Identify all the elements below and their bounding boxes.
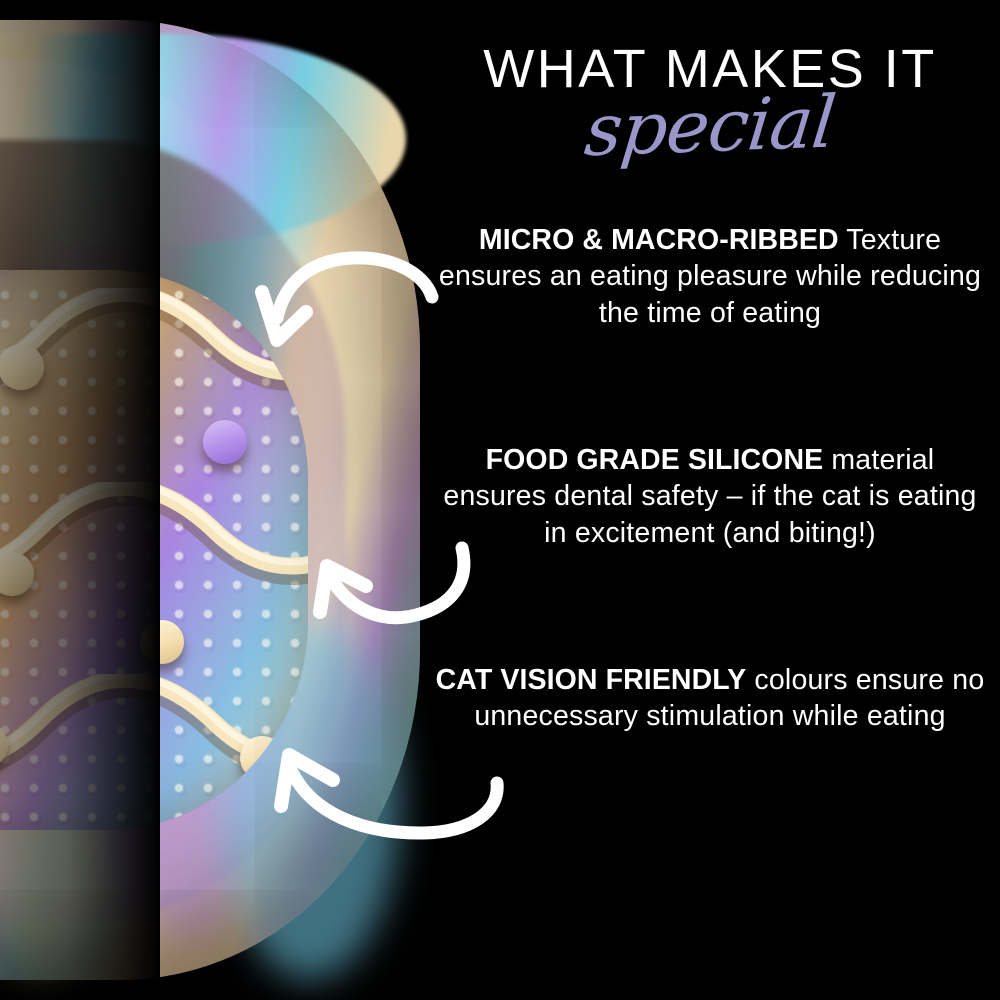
feature-bold-label: CAT VISION FRIENDLY: [436, 664, 747, 696]
product-image: [0, 20, 420, 980]
wavy-ridge: [0, 288, 308, 408]
infographic-canvas: WHAT MAKES IT special MICRO & MACRO-RIBB…: [0, 0, 1000, 1000]
wavy-ridge: [0, 482, 308, 602]
feature-text: CAT VISION FRIENDLY colours ensure no un…: [420, 662, 1000, 735]
macro-post: [203, 420, 247, 464]
page-title: WHAT MAKES IT special: [420, 42, 1000, 162]
macro-post: [140, 620, 184, 664]
content-column: WHAT MAKES IT special MICRO & MACRO-RIBB…: [420, 0, 1000, 1000]
macro-post: [240, 736, 284, 780]
feature-bold-label: MICRO & MACRO-RIBBED: [479, 224, 839, 256]
feature-bold-label: FOOD GRADE SILICONE: [486, 444, 824, 476]
feeder-floor: [0, 270, 308, 830]
headline-script-word: special: [582, 86, 839, 167]
macro-post: [0, 344, 44, 390]
feature-block-food-grade-silicone: FOOD GRADE SILICONE material ensures den…: [420, 442, 1000, 551]
bowl-body: [0, 20, 420, 980]
feature-text: FOOD GRADE SILICONE material ensures den…: [420, 442, 1000, 551]
feature-text: MICRO & MACRO-RIBBED Texture ensures an …: [420, 222, 1000, 331]
feature-block-cat-vision-friendly: CAT VISION FRIENDLY colours ensure no un…: [420, 662, 1000, 735]
feature-block-micro-macro-ribbed: MICRO & MACRO-RIBBED Texture ensures an …: [420, 222, 1000, 331]
